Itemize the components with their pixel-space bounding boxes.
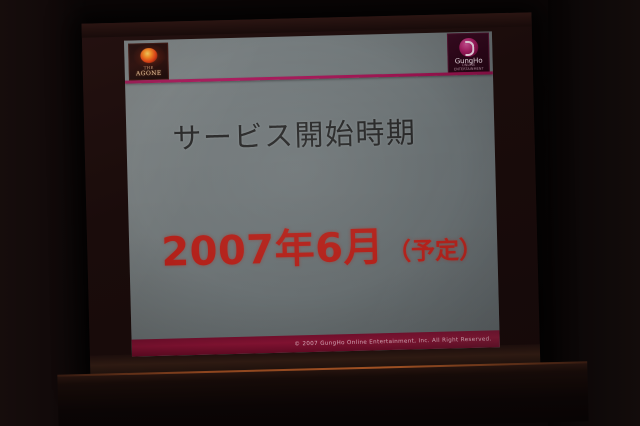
game-logo-wordmark: AGONE bbox=[130, 70, 168, 78]
game-logo-left: THE AGONE bbox=[128, 43, 169, 81]
copyright-text: © 2007 GungHo Online Entertainment, Inc.… bbox=[294, 336, 491, 347]
gungho-brand-sublabel: ONLINE ENTERTAINMENT bbox=[449, 62, 489, 71]
slide-title: サービス開始時期 bbox=[172, 109, 417, 157]
slide-date-note: （予定） bbox=[387, 230, 484, 267]
room-wall-left bbox=[0, 0, 86, 426]
slide-date-row: 2007年6月 （予定） bbox=[161, 212, 484, 278]
photo-of-projected-slide: THE AGONE GungHo ONLINE ENTERTAINMENT サー… bbox=[0, 0, 640, 426]
gungho-logo-right: GungHo ONLINE ENTERTAINMENT bbox=[447, 32, 490, 73]
projection-screen-frame: THE AGONE GungHo ONLINE ENTERTAINMENT サー… bbox=[82, 12, 541, 381]
slide-date-main: 2007年6月 bbox=[161, 214, 385, 278]
presentation-slide: THE AGONE GungHo ONLINE ENTERTAINMENT サー… bbox=[124, 31, 500, 356]
